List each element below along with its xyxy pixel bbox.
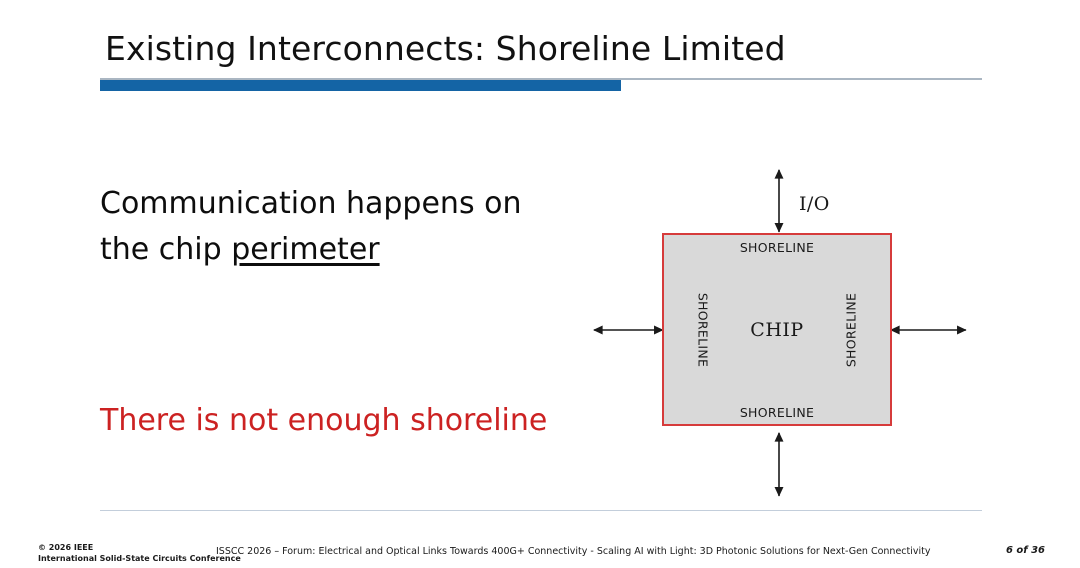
body-statement: Communication happens on the chip perime… <box>100 181 620 273</box>
chip-label: CHIP <box>664 319 890 341</box>
chip-shoreline-diagram: I/O SHORELINE SHORELINE SHORELINE SHOREL… <box>580 160 980 505</box>
body-line-1: Communication happens on <box>100 186 521 221</box>
footer-page-number: 6 of 36 <box>1006 545 1045 556</box>
slide-canvas: Existing Interconnects: Shoreline Limite… <box>0 0 1080 568</box>
footer-branding: © 2026 IEEE International Solid-State Ci… <box>38 543 241 564</box>
footer-copyright: © 2026 IEEE <box>38 543 241 554</box>
title-rule-blue-accent <box>100 80 621 91</box>
footer-session-title: ISSCC 2026 – Forum: Electrical and Optic… <box>216 546 931 557</box>
footer-divider <box>100 510 982 511</box>
shoreline-label-bottom: SHORELINE <box>664 405 890 420</box>
page-title: Existing Interconnects: Shoreline Limite… <box>105 29 985 68</box>
chip-box: SHORELINE SHORELINE SHORELINE SHORELINE … <box>662 233 892 426</box>
shoreline-label-top: SHORELINE <box>664 240 890 255</box>
body-line-2-prefix: the chip <box>100 232 231 267</box>
footer-organization: International Solid-State Circuits Confe… <box>38 554 241 565</box>
io-label: I/O <box>799 193 830 215</box>
body-line-2-emphasis: perimeter <box>231 232 379 267</box>
